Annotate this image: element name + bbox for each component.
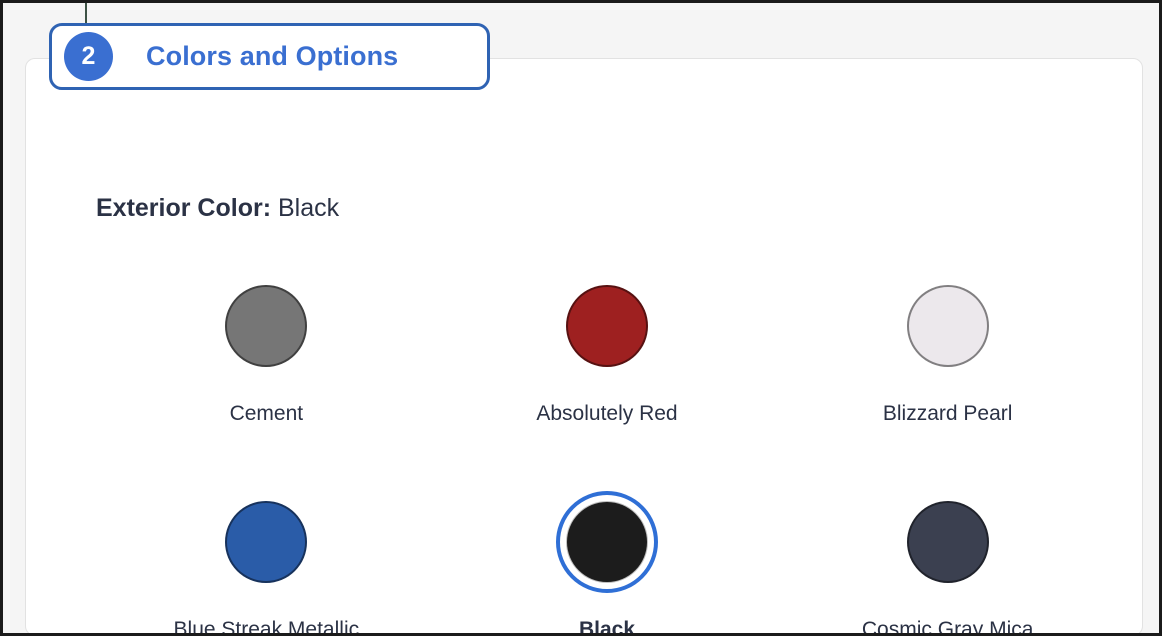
color-swatch-blizzard-pearl[interactable]: Blizzard Pearl (777, 259, 1118, 475)
color-swatch-label: Blue Streak Metallic (174, 618, 360, 636)
colors-and-options-card: Exterior Color: Black Cement Absolutely … (25, 58, 1143, 636)
color-swatch-cosmic-gray-mica[interactable]: Cosmic Gray Mica (777, 475, 1118, 636)
exterior-color-heading: Exterior Color: Black (96, 194, 339, 223)
color-swatch-label: Cosmic Gray Mica (862, 618, 1034, 636)
color-swatch-blue-streak-metallic[interactable]: Blue Streak Metallic (96, 475, 437, 636)
step-connector-line (85, 3, 87, 25)
color-dot-icon (907, 285, 989, 367)
color-swatch-cement[interactable]: Cement (96, 259, 437, 475)
step-title: Colors and Options (146, 41, 398, 72)
exterior-color-value: Black (278, 194, 339, 222)
swatch-selected-ring-icon (556, 491, 658, 593)
color-swatch-label: Blizzard Pearl (883, 402, 1013, 426)
color-dot-icon (907, 501, 989, 583)
screenshot-frame: Exterior Color: Black Cement Absolutely … (0, 0, 1162, 636)
exterior-color-swatch-grid: Cement Absolutely Red Blizzard Pearl Blu… (96, 259, 1118, 636)
color-dot-icon (567, 502, 647, 582)
color-swatch-label: Black (579, 618, 635, 636)
color-swatch-label: Cement (230, 402, 304, 426)
exterior-color-label: Exterior Color: (96, 194, 271, 222)
color-dot-icon (225, 285, 307, 367)
swatch-ring (897, 491, 999, 593)
step-tab-colors-and-options[interactable]: 2 Colors and Options (49, 23, 490, 90)
color-swatch-black[interactable]: Black (437, 475, 778, 636)
swatch-ring (215, 491, 317, 593)
swatch-ring (215, 275, 317, 377)
color-dot-icon (225, 501, 307, 583)
swatch-ring (556, 275, 658, 377)
step-number-badge: 2 (64, 32, 113, 81)
swatch-ring (897, 275, 999, 377)
color-swatch-label: Absolutely Red (536, 402, 677, 426)
color-swatch-absolutely-red[interactable]: Absolutely Red (437, 259, 778, 475)
color-dot-icon (566, 285, 648, 367)
